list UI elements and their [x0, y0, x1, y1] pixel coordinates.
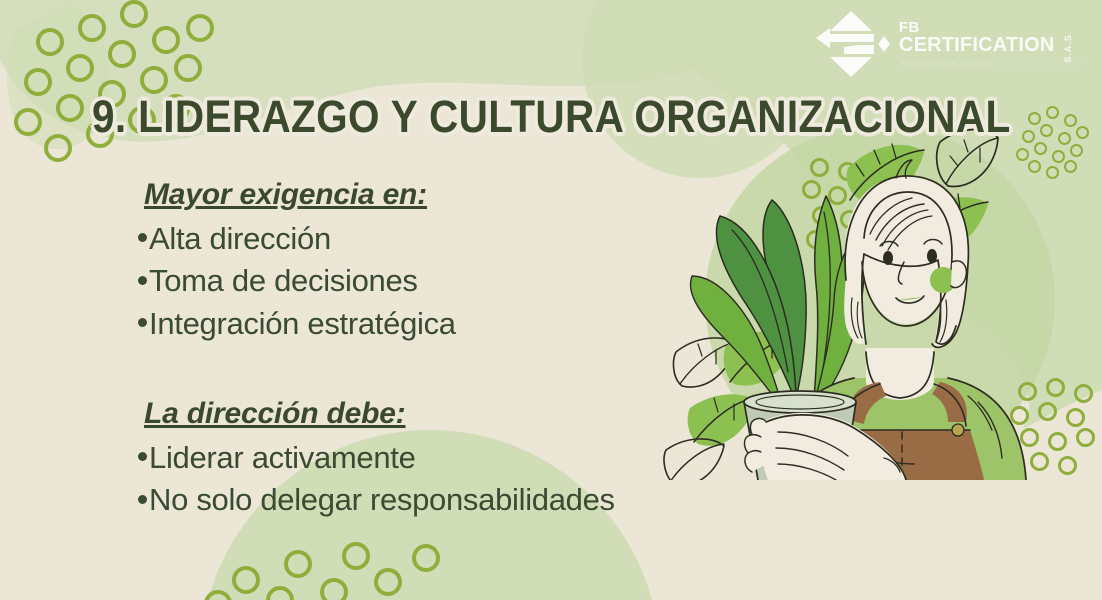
ring-dot: [204, 590, 232, 600]
logo-wordmark: FB CERTIFICATIONS.A.S Inspection and Tra…: [899, 20, 1084, 68]
ring-dot: [284, 550, 312, 578]
list-item-label: Integración estratégica: [149, 306, 456, 341]
ring-dot: [108, 40, 136, 68]
logo-line-certification: CERTIFICATIONS.A.S: [899, 35, 1084, 55]
content-group-mayor-exigencia: Mayor exigencia en: Alta dirección Toma …: [138, 178, 758, 345]
section-heading: Mayor exigencia en:: [144, 178, 758, 212]
list-item: Alta dirección: [138, 218, 758, 260]
ring-dot: [342, 542, 370, 570]
list-item-label: Toma de decisiones: [149, 263, 418, 298]
list-item: Integración estratégica: [138, 303, 758, 345]
section-heading: La dirección debe:: [144, 397, 758, 431]
ring-dot: [36, 28, 64, 56]
ring-dot: [266, 586, 294, 600]
list-item-label: Alta dirección: [149, 221, 331, 256]
content-group-la-direccion: La dirección debe: Liderar activamente N…: [138, 397, 758, 522]
fb-arrows-mark-icon: [814, 9, 892, 79]
list-item-label: No solo delegar responsabilidades: [149, 482, 615, 517]
bullet-dot-icon: [138, 276, 147, 285]
ring-dot: [66, 54, 94, 82]
bullet-dot-icon: [138, 233, 147, 242]
ring-dot: [78, 14, 106, 42]
ring-dot: [232, 566, 260, 594]
ring-dot: [374, 568, 402, 596]
ring-dot: [140, 66, 168, 94]
ring-dot: [174, 54, 202, 82]
bullet-dot-icon: [138, 318, 147, 327]
page-title: 9. LIDERAZGO Y CULTURA ORGANIZACIONAL: [92, 94, 1011, 139]
ring-dot: [24, 68, 52, 96]
ring-dot: [186, 14, 214, 42]
ring-dot: [412, 544, 440, 572]
ring-dot: [320, 578, 348, 600]
ring-dot: [120, 0, 148, 28]
list-item: Toma de decisiones: [138, 260, 758, 302]
bullet-dot-icon: [138, 452, 147, 461]
list-item: Liderar activamente: [138, 437, 758, 479]
logo-line-fb: FB: [899, 20, 1084, 35]
body-content: Mayor exigencia en: Alta dirección Toma …: [138, 178, 758, 522]
bullet-dot-icon: [138, 495, 147, 504]
list-item-label: Liderar activamente: [149, 440, 416, 475]
bullet-list: Alta dirección Toma de decisiones Integr…: [138, 218, 758, 345]
page-title-container: 9. LIDERAZGO Y CULTURA ORGANIZACIONAL: [0, 94, 1102, 139]
slide-canvas: 9. LIDERAZGO Y CULTURA ORGANIZACIONAL Ma…: [0, 0, 1102, 600]
bullet-list: Liderar activamente No solo delegar resp…: [138, 437, 758, 522]
ring-dot: [152, 26, 180, 54]
logo-tagline: Inspection and Training: [899, 58, 1084, 68]
fb-certification-logo: FB CERTIFICATIONS.A.S Inspection and Tra…: [814, 8, 1084, 80]
list-item: No solo delegar responsabilidades: [138, 479, 758, 521]
